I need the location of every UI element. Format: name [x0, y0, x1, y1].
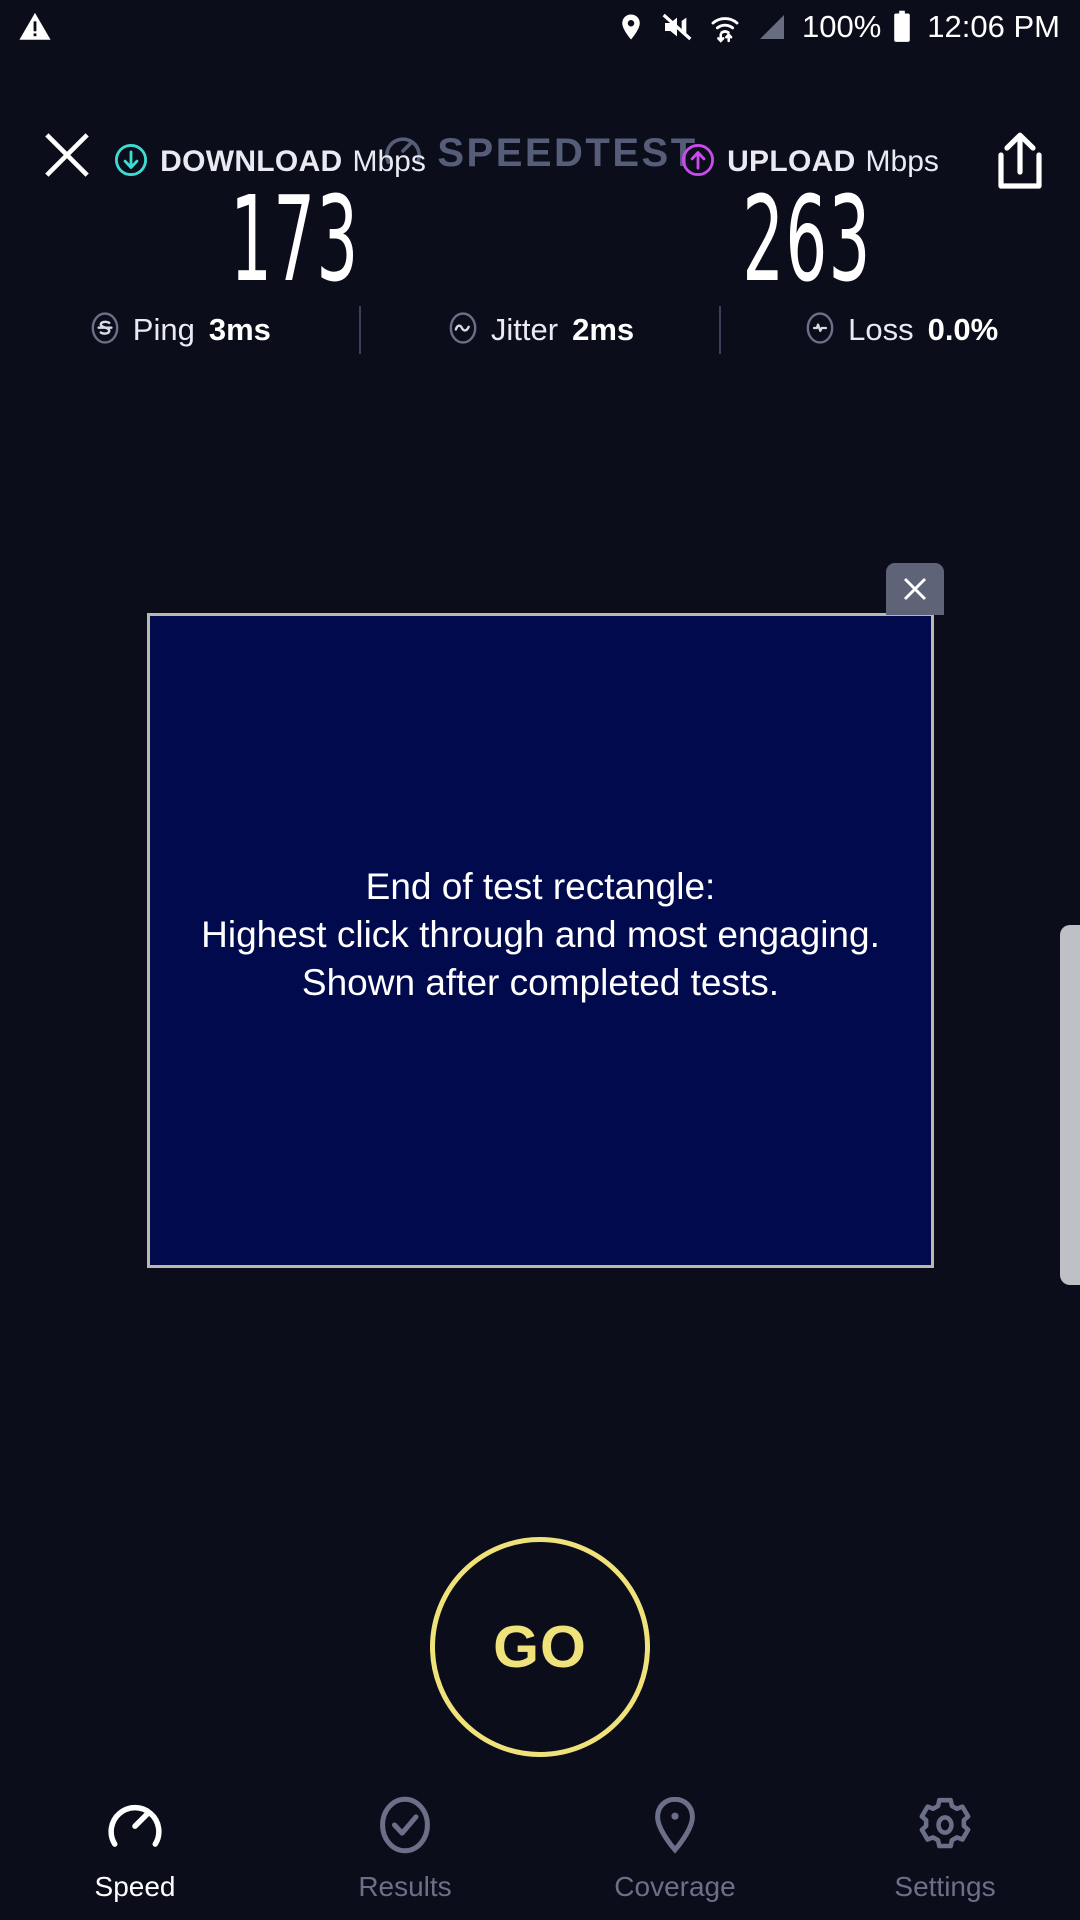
metrics-row: Ping 3ms Jitter 2ms Loss 0.0: [0, 295, 1080, 365]
speed-columns: DOWNLOAD Mbps 173 UPLOAD Mbps: [0, 140, 1080, 294]
status-bar: 100% 12:06 PM: [0, 0, 1080, 54]
status-bar-left: [18, 10, 52, 44]
ping-value: 3ms: [209, 312, 271, 348]
jitter-value: 2ms: [572, 312, 634, 348]
ad-close-icon[interactable]: [886, 563, 944, 615]
page-scrollbar[interactable]: [1060, 925, 1080, 1285]
ping-label: Ping: [133, 312, 195, 348]
wifi-transfer-icon: [708, 10, 742, 44]
ad-line-2: Highest click through and most engaging.: [150, 911, 931, 959]
go-button-label: GO: [493, 1613, 587, 1681]
speedometer-icon: [104, 1794, 166, 1861]
location-pin-icon: [644, 1794, 706, 1861]
metric-jitter: Jitter 2ms: [361, 295, 720, 365]
volume-mute-icon: [660, 11, 694, 43]
go-button[interactable]: GO: [430, 1537, 650, 1757]
jitter-label: Jitter: [491, 312, 558, 348]
results-panel: DOWNLOAD Mbps 173 UPLOAD Mbps: [0, 140, 1080, 294]
nav-label-coverage: Coverage: [614, 1871, 735, 1903]
advertisement-banner[interactable]: End of test rectangle: Highest click thr…: [147, 613, 934, 1268]
metric-ping: Ping 3ms: [0, 295, 359, 365]
download-arrow-icon: [114, 143, 148, 182]
warning-triangle-icon: [18, 10, 52, 44]
metric-loss: Loss 0.0%: [721, 295, 1080, 365]
upload-value: 263: [643, 184, 978, 294]
upload-column: UPLOAD Mbps 263: [540, 140, 1080, 294]
ping-icon: [88, 311, 122, 350]
bottom-navigation: Speed Results Coverage: [0, 1790, 1080, 1920]
gear-icon: [914, 1794, 976, 1861]
battery-full-icon: [891, 10, 913, 44]
nav-label-results: Results: [358, 1871, 451, 1903]
download-value: 173: [103, 184, 438, 294]
ad-line-3: Shown after completed tests.: [150, 959, 931, 1007]
status-bar-right: 100% 12:06 PM: [616, 9, 1060, 45]
loss-icon: [803, 311, 837, 350]
loss-label: Loss: [848, 312, 913, 348]
battery-percent-label: 100%: [802, 9, 881, 45]
upload-unit: Mbps: [866, 145, 939, 179]
nav-item-speed[interactable]: Speed: [0, 1794, 270, 1903]
cell-signal-icon: [756, 11, 788, 43]
advertisement-text: End of test rectangle: Highest click thr…: [150, 863, 931, 1007]
nav-item-results[interactable]: Results: [270, 1794, 540, 1903]
loss-value: 0.0%: [928, 312, 999, 348]
upload-arrow-icon: [681, 143, 715, 182]
nav-label-settings: Settings: [894, 1871, 995, 1903]
nav-item-settings[interactable]: Settings: [810, 1794, 1080, 1903]
download-unit: Mbps: [353, 145, 426, 179]
download-column: DOWNLOAD Mbps 173: [0, 140, 540, 294]
nav-item-coverage[interactable]: Coverage: [540, 1794, 810, 1903]
jitter-icon: [446, 311, 480, 350]
speedtest-app-screen: 100% 12:06 PM SPEEDTEST: [0, 0, 1080, 1920]
check-circle-icon: [374, 1794, 436, 1861]
app-bar: SPEEDTEST: [0, 54, 1080, 154]
clock-label: 12:06 PM: [927, 9, 1060, 45]
nav-label-speed: Speed: [95, 1871, 176, 1903]
location-pin-icon: [616, 11, 646, 43]
ad-line-1: End of test rectangle:: [150, 863, 931, 911]
